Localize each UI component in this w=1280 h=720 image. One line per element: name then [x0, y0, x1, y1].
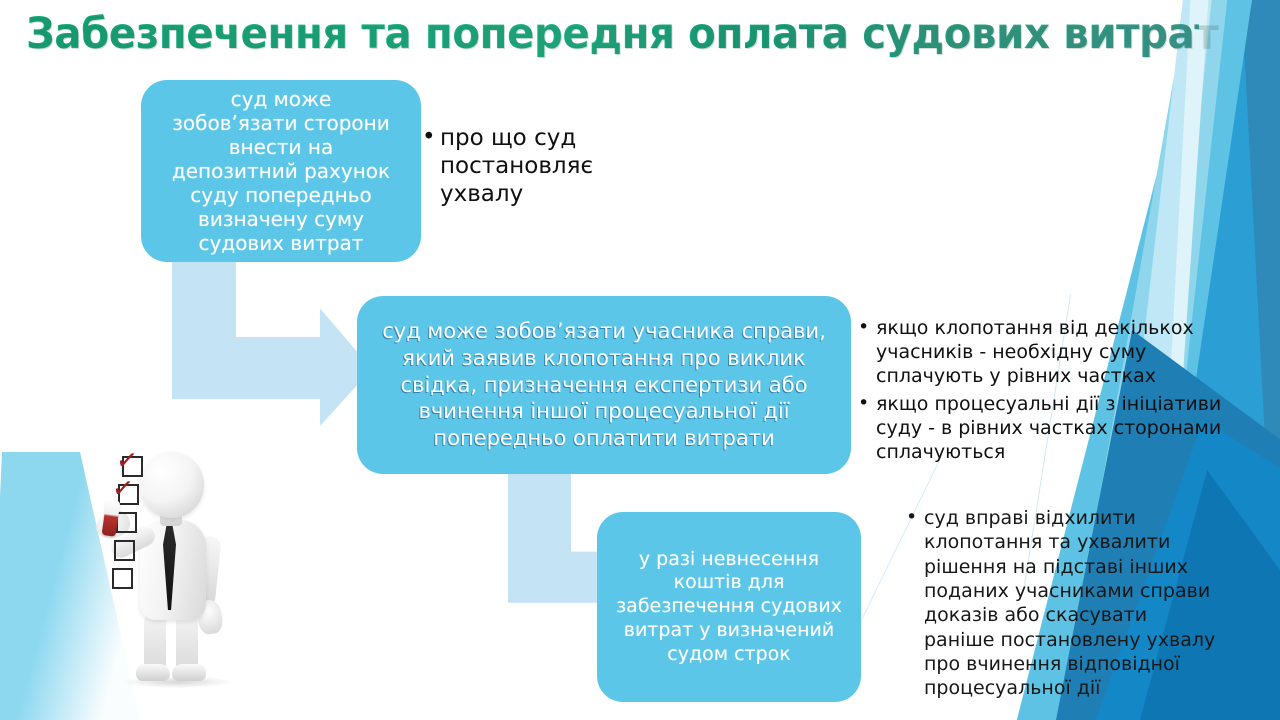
- note-list-equal-shares: якщо клопотання від декількох учасників …: [856, 317, 1256, 469]
- flow-box-participant-prepay-text: суд може зобов’язати учасника справи, як…: [357, 318, 851, 452]
- list-item: про що суд постановляє ухвалу: [420, 124, 680, 208]
- presentation-slide: Забезпечення та попередня оплата судових…: [0, 0, 1280, 720]
- checkmark-icon-2: ✓: [111, 475, 135, 503]
- list-item: суд вправі відхилити клопотання та ухвал…: [904, 506, 1244, 701]
- list-item: якщо процесуальні дії з ініціативи суду …: [856, 393, 1256, 465]
- checkbox-icon-5: [112, 568, 133, 589]
- note-list-ruling: про що суд постановляє ухвалу: [420, 124, 680, 210]
- flow-box-deposit-text: суд може зобов’язати сторони внести на д…: [141, 87, 421, 255]
- elbow-arrow-icon-box1-to-box2: [172, 258, 372, 426]
- flow-box-deposit[interactable]: суд може зобов’язати сторони внести на д…: [141, 80, 421, 262]
- checkbox-icon-3: [116, 512, 137, 533]
- checkbox-icon-4: [114, 540, 135, 561]
- figure-head: [140, 452, 204, 518]
- flow-box-participant-prepay[interactable]: суд може зобов’язати учасника справи, як…: [357, 296, 851, 474]
- flow-box-non-payment-text: у разі невнесення коштів для забезпеченн…: [597, 548, 861, 667]
- flow-box-non-payment[interactable]: у разі невнесення коштів для забезпеченн…: [597, 512, 861, 702]
- checkmark-icon-1: ✓: [115, 447, 139, 475]
- mannequin-illustration: ✓ ✓: [84, 440, 284, 688]
- figure-right-foot: [172, 664, 206, 681]
- page-title: Забезпечення та попередня оплата судових…: [26, 12, 1199, 57]
- note-list-court-rights: суд вправі відхилити клопотання та ухвал…: [904, 506, 1244, 703]
- list-item: якщо клопотання від декількох учасників …: [856, 317, 1256, 389]
- figure-left-foot: [136, 664, 170, 681]
